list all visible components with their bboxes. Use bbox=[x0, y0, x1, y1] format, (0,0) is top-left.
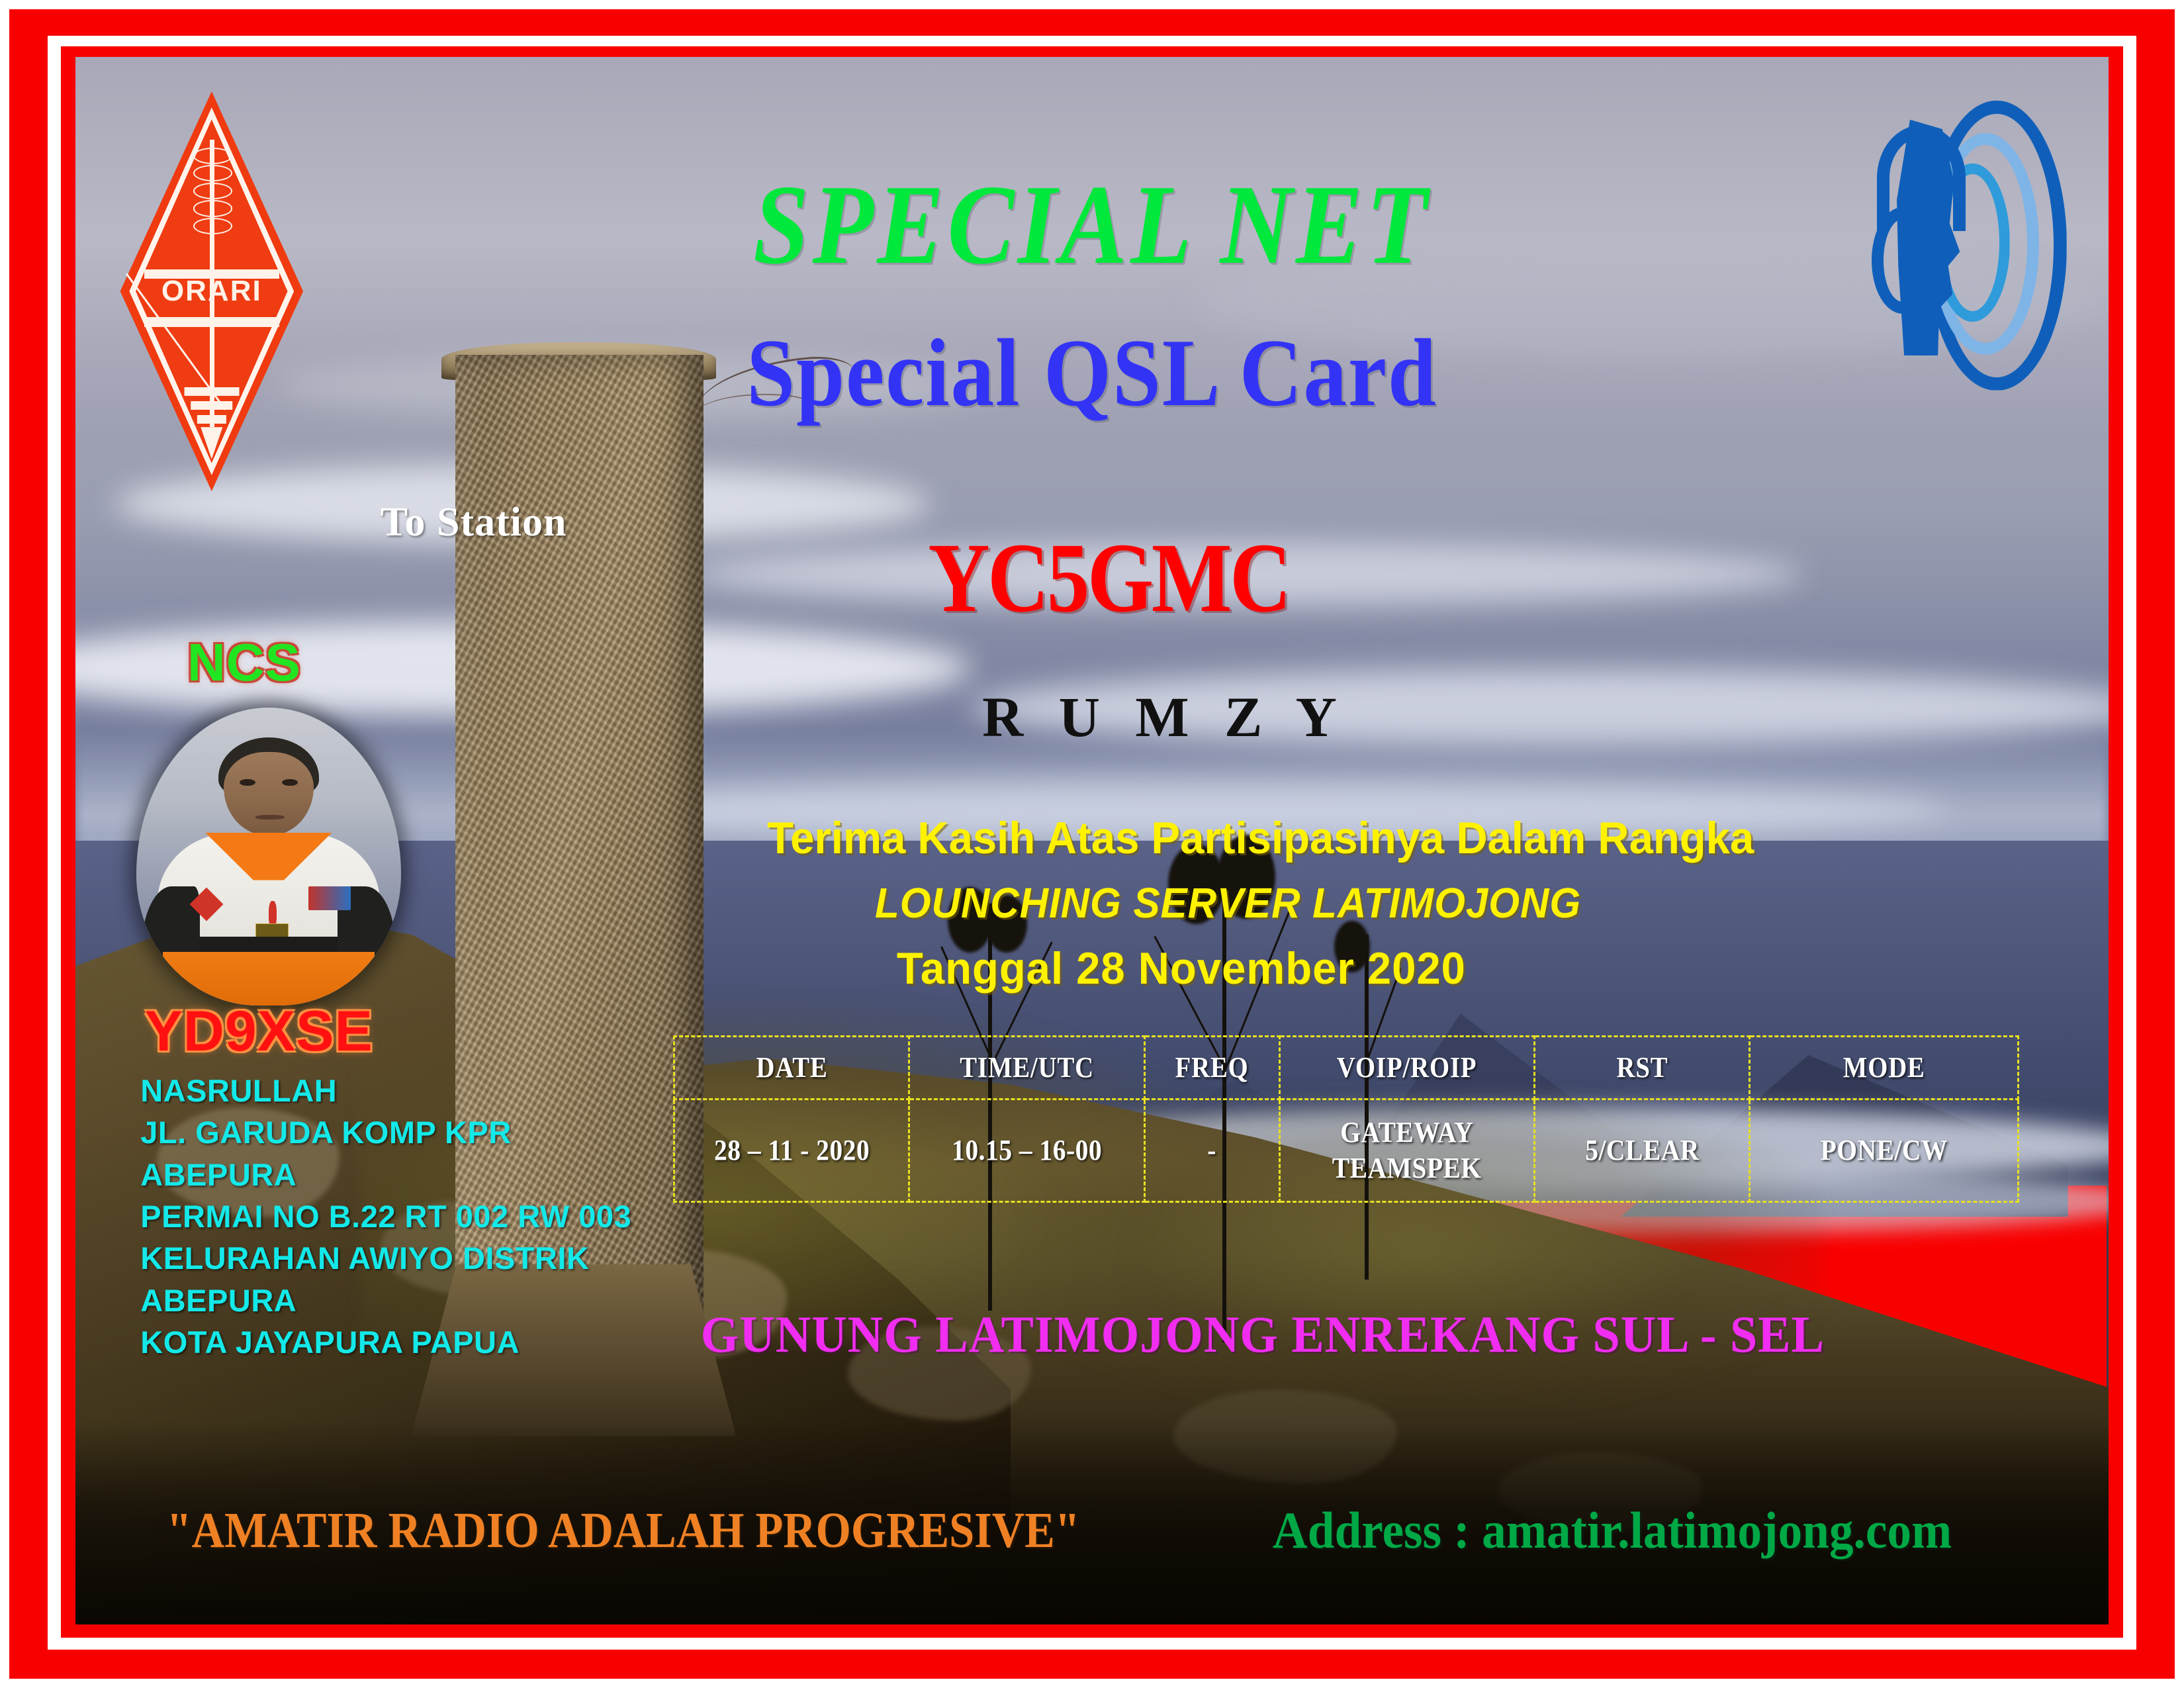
address-line: NASRULLAH bbox=[140, 1070, 631, 1111]
address-line: JL. GARUDA KOMP KPR bbox=[140, 1111, 631, 1153]
column-header-rst: RST bbox=[1547, 1036, 1737, 1099]
orari-logo-icon: ORARI bbox=[120, 91, 303, 491]
subtitle: Special QSL Card bbox=[177, 317, 2007, 428]
cell-freq: - bbox=[1151, 1099, 1273, 1201]
operator-photo bbox=[136, 708, 400, 1006]
column-header-voip: VOIP/ROIP bbox=[1295, 1036, 1519, 1099]
operator-name: R U M Z Y bbox=[982, 684, 1347, 750]
card-content-layer: ORARI SPECIAL NET Special QSL Card To St… bbox=[75, 57, 2109, 1624]
thanks-line-2: LOUNCHING SERVER LATIMOJONG bbox=[875, 878, 1581, 927]
column-header-freq: FREQ bbox=[1152, 1036, 1271, 1099]
qsl-card: ORARI SPECIAL NET Special QSL Card To St… bbox=[0, 0, 2184, 1688]
address-line: KOTA JAYAPURA PAPUA bbox=[140, 1321, 631, 1363]
address-line: ABEPURA bbox=[140, 1280, 631, 1321]
column-header-mode: MODE bbox=[1766, 1036, 2002, 1099]
table-row: 28 – 11 - 2020 10.15 – 16-00 - GATEWAY T… bbox=[674, 1099, 2019, 1201]
thanks-line-3: Tanggal 28 November 2020 bbox=[897, 943, 1466, 994]
cell-voip-line2: TEAMSPEK bbox=[1293, 1150, 1521, 1186]
cell-voip-line1: GATEWAY bbox=[1293, 1115, 1521, 1150]
to-station-label: To Station bbox=[381, 499, 567, 546]
recipient-callsign: YC5GMC bbox=[929, 521, 1289, 635]
cell-voip: GATEWAY TEAMSPEK bbox=[1293, 1099, 1522, 1201]
cell-mode: PONE/CW bbox=[1763, 1099, 2005, 1201]
qso-details-table: DATE TIME/UTC FREQ VOIP/ROIP RST MODE 28… bbox=[673, 1035, 2019, 1203]
table-header-row: DATE TIME/UTC FREQ VOIP/ROIP RST MODE bbox=[674, 1036, 2019, 1099]
column-header-time: TIME/UTC bbox=[923, 1036, 1130, 1099]
cell-rst: 5/CLEAR bbox=[1545, 1099, 1739, 1201]
location-line: GUNUNG LATIMOJONG ENREKANG SUL - SEL bbox=[701, 1305, 1825, 1364]
card-photo-area: ORARI SPECIAL NET Special QSL Card To St… bbox=[75, 57, 2109, 1624]
thanks-line-1: Terima Kasih Atas Partisipasinya Dalam R… bbox=[767, 812, 1754, 864]
ncs-label: NCS bbox=[187, 632, 301, 693]
cell-time: 10.15 – 16-00 bbox=[921, 1099, 1133, 1201]
address-line: ABEPURA bbox=[140, 1154, 631, 1196]
web-address-text: Address : amatir.latimojong.com bbox=[1272, 1501, 1951, 1560]
address-line: PERMAI NO B.22 RT 002 RW 003 bbox=[140, 1196, 631, 1237]
ncs-address-block: NASRULLAH JL. GARUDA KOMP KPR ABEPURA PE… bbox=[140, 1070, 631, 1364]
slogan-text: "AMATIR RADIO ADALAH PROGRESIVE" bbox=[167, 1502, 1080, 1560]
column-header-date: DATE bbox=[688, 1036, 895, 1099]
ncs-callsign: YD9XSE bbox=[144, 999, 373, 1064]
page-title: SPECIAL NET bbox=[197, 160, 1986, 291]
address-line: KELURAHAN AWIYO DISTRIK bbox=[140, 1237, 631, 1279]
cell-date: 28 – 11 - 2020 bbox=[686, 1099, 897, 1201]
